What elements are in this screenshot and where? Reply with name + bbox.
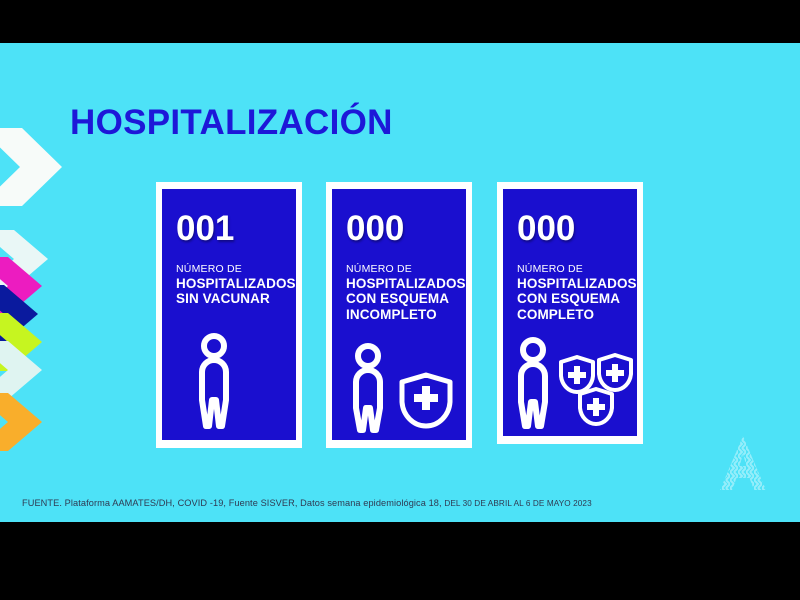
slide-canvas: HOSPITALIZACIÓN 001 NÚMERO DE HOSPITALIZ…	[0, 43, 800, 522]
stat-caption-line: CON ESQUEMA	[346, 291, 466, 306]
stat-card-artwork	[162, 330, 296, 434]
stat-card-group: 001 NÚMERO DE HOSPITALIZADOS SIN VACUNAR	[156, 182, 666, 452]
stat-caption: NÚMERO DE HOSPITALIZADOS CON ESQUEMA COM…	[517, 263, 637, 322]
stat-card-body: 001 NÚMERO DE HOSPITALIZADOS SIN VACUNAR	[162, 189, 296, 440]
stat-caption-main: HOSPITALIZADOS CON ESQUEMA COMPLETO	[517, 276, 637, 322]
brand-logo	[714, 432, 772, 494]
stat-caption: NÚMERO DE HOSPITALIZADOS CON ESQUEMA INC…	[346, 263, 466, 322]
stat-card-body: 000 NÚMERO DE HOSPITALIZADOS CON ESQUEMA…	[503, 189, 637, 436]
stat-caption-line: HOSPITALIZADOS	[176, 276, 296, 291]
letterbox-bottom	[0, 522, 800, 600]
footer-bar: FUENTE. Plataforma AAMATES/DH, COVID -19…	[0, 490, 800, 522]
stat-caption-line: HOSPITALIZADOS	[346, 276, 466, 291]
stat-card-artwork	[332, 330, 466, 434]
person-with-three-shields-icon	[503, 326, 637, 430]
stat-caption-main: HOSPITALIZADOS CON ESQUEMA INCOMPLETO	[346, 276, 466, 322]
page-title: HOSPITALIZACIÓN	[70, 103, 393, 143]
stat-number: 001	[176, 211, 234, 246]
stat-caption-line: SIN VACUNAR	[176, 291, 296, 306]
stat-card-complete-scheme[interactable]: 000 NÚMERO DE HOSPITALIZADOS CON ESQUEMA…	[497, 182, 643, 444]
stat-caption-prefix: NÚMERO DE	[517, 263, 637, 275]
stat-card-body: 000 NÚMERO DE HOSPITALIZADOS CON ESQUEMA…	[332, 189, 466, 440]
stat-card-incomplete-scheme[interactable]: 000 NÚMERO DE HOSPITALIZADOS CON ESQUEMA…	[326, 182, 472, 448]
stat-number: 000	[517, 211, 575, 246]
chevron-ribbon-icon	[0, 43, 62, 522]
logo-a-icon	[714, 432, 772, 494]
shield-icon	[599, 355, 631, 390]
stat-caption-line: COMPLETO	[517, 307, 637, 322]
shield-icon	[402, 375, 450, 426]
stat-card-artwork	[503, 326, 637, 430]
stat-caption-line: HOSPITALIZADOS	[517, 276, 637, 291]
stat-number: 000	[346, 211, 404, 246]
shield-icon	[580, 389, 612, 424]
stat-caption-main: HOSPITALIZADOS SIN VACUNAR	[176, 276, 296, 307]
source-note: FUENTE. Plataforma AAMATES/DH, COVID -19…	[22, 498, 592, 508]
stat-card-unvaccinated[interactable]: 001 NÚMERO DE HOSPITALIZADOS SIN VACUNAR	[156, 182, 302, 448]
stat-caption-line: INCOMPLETO	[346, 307, 466, 322]
stat-caption-prefix: NÚMERO DE	[346, 263, 466, 275]
source-note-date: DEL 30 DE ABRIL AL 6 DE MAYO 2023	[444, 499, 591, 508]
letterbox-top	[0, 0, 800, 43]
shield-icon	[561, 357, 593, 392]
chevron-decoration	[0, 43, 62, 522]
stat-caption: NÚMERO DE HOSPITALIZADOS SIN VACUNAR	[176, 263, 296, 307]
person-icon	[162, 330, 296, 434]
source-note-text: FUENTE. Plataforma AAMATES/DH, COVID -19…	[22, 498, 444, 508]
stat-caption-prefix: NÚMERO DE	[176, 263, 296, 275]
person-with-shield-icon	[332, 330, 466, 434]
slide-stage: HOSPITALIZACIÓN 001 NÚMERO DE HOSPITALIZ…	[0, 0, 800, 600]
stat-caption-line: CON ESQUEMA	[517, 291, 637, 306]
